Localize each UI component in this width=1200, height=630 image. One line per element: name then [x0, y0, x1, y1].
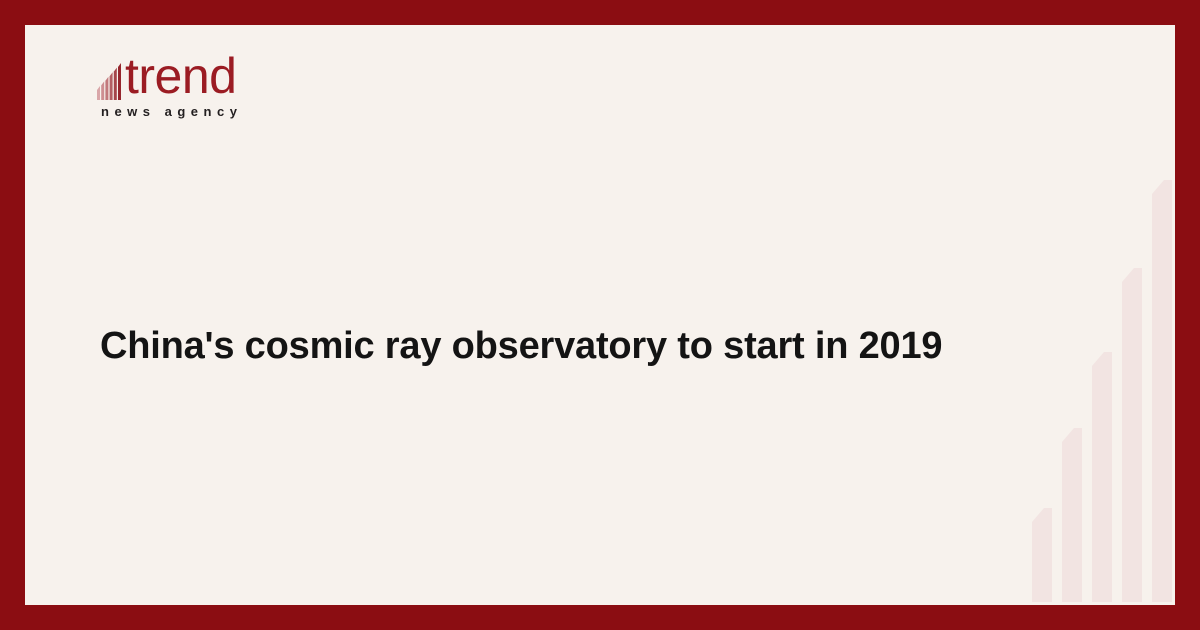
brand-tagline: news agency [101, 104, 357, 119]
rising-bars-watermark-icon [1032, 170, 1172, 602]
brand-wordmark: trend [125, 52, 236, 100]
article-headline: China's cosmic ray observatory to start … [100, 322, 1000, 370]
logo-wordmark-row: trend [97, 48, 357, 100]
social-share-card: trend news agency China's cosmic ray obs… [0, 0, 1200, 630]
card-content-area: trend news agency China's cosmic ray obs… [25, 25, 1175, 605]
brand-logo[interactable]: trend news agency [97, 48, 357, 119]
rising-bars-icon [97, 52, 123, 100]
